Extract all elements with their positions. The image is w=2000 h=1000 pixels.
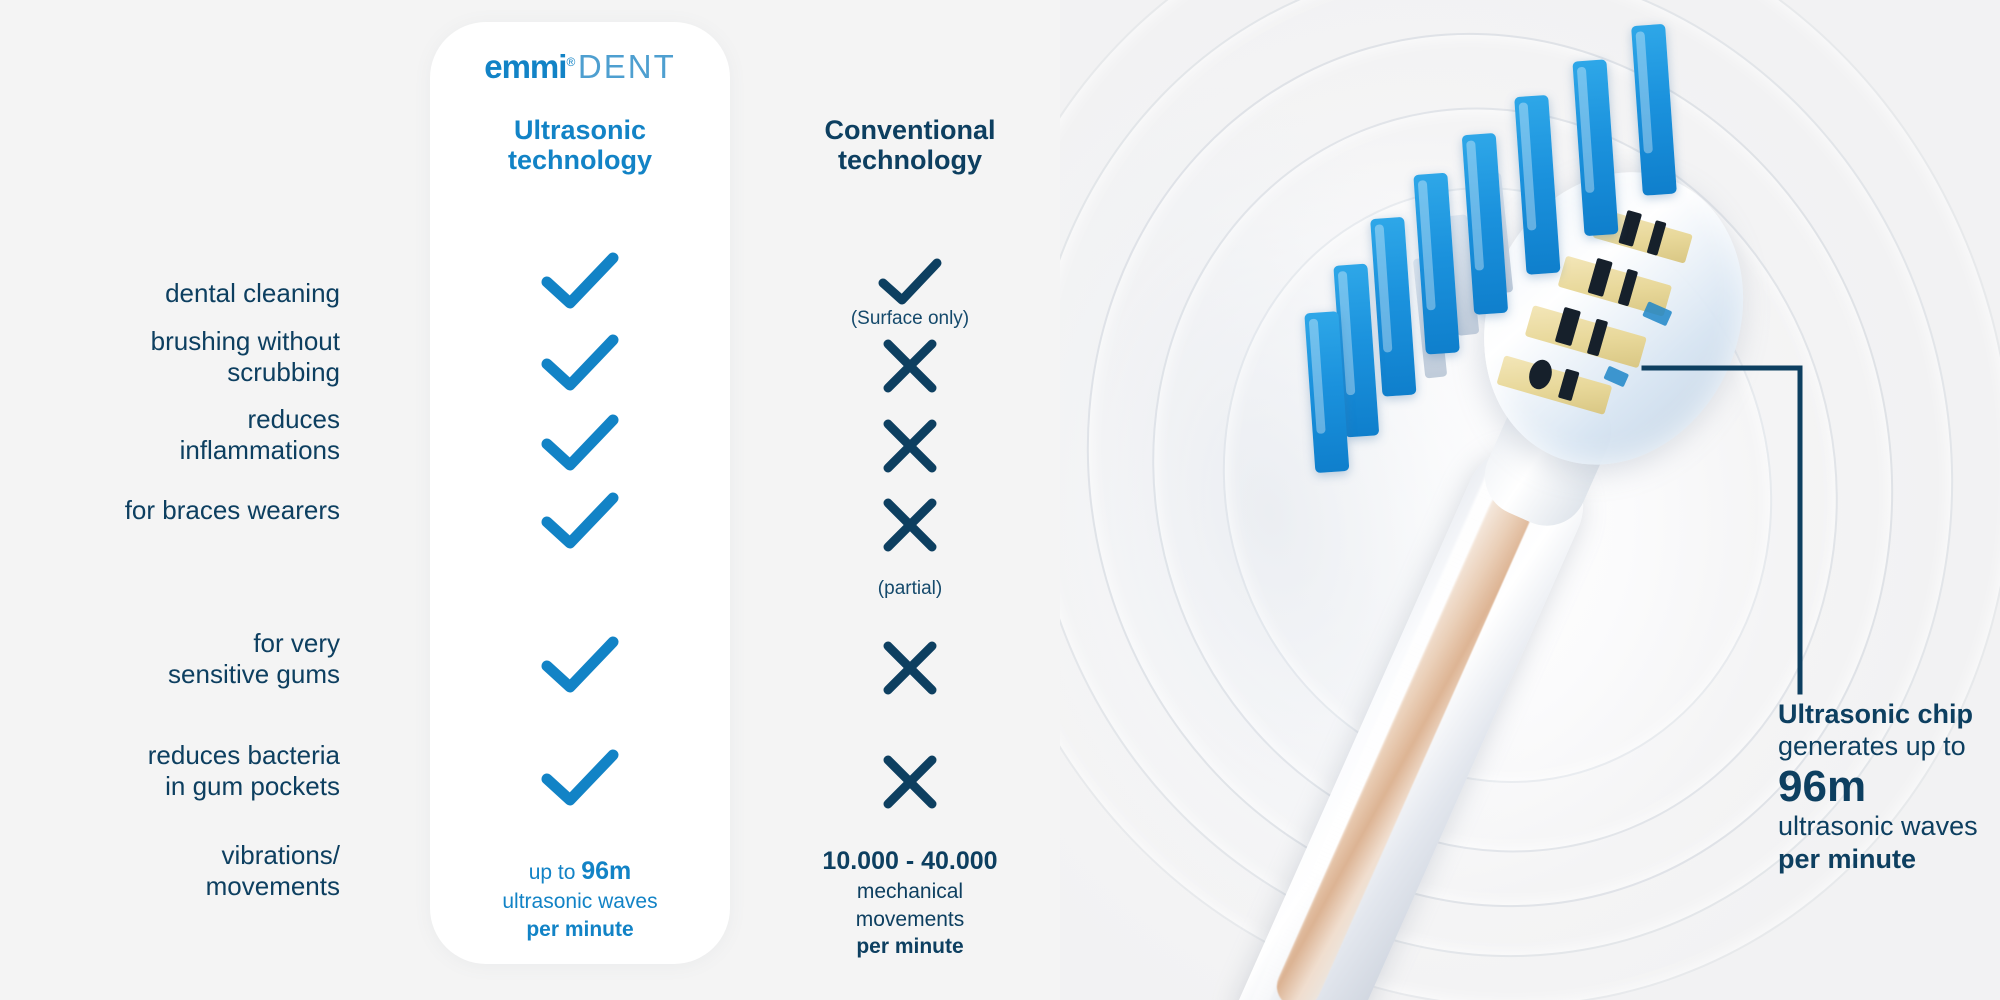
- row-label-dental-cleaning: dental cleaning: [0, 278, 340, 309]
- callout-line4: ultrasonic waves: [1778, 810, 2000, 842]
- footer-ultrasonic: up to 96m ultrasonic waves per minute: [430, 855, 730, 943]
- column-header-ultrasonic: Ultrasonic technology: [430, 115, 730, 175]
- cross-icon: [880, 495, 940, 555]
- column-header-conventional-line1: Conventional: [760, 115, 1060, 145]
- emmi-dent-logo: emmi®DENT: [430, 48, 730, 86]
- row-3-ultrasonic-mark: [430, 488, 730, 559]
- row-2-ultrasonic-mark: [430, 410, 730, 481]
- row-label-line1: reduces bacteria: [0, 740, 340, 771]
- footer-conventional-line2: mechanical: [760, 878, 1060, 906]
- row-label-line2: scrubbing: [0, 357, 340, 388]
- check-icon: [537, 488, 623, 554]
- column-header-ultrasonic-line1: Ultrasonic: [430, 115, 730, 145]
- row-label-vibrations-movements: vibrations/ movements: [0, 840, 340, 901]
- check-icon: [537, 410, 623, 476]
- row-0-ultrasonic-mark: [430, 248, 730, 319]
- row-2-conventional-mark: [760, 416, 1060, 481]
- check-icon: [537, 632, 623, 698]
- row-label-line1: reduces: [0, 404, 340, 435]
- footer-ultrasonic-prefix: up to: [529, 861, 582, 884]
- callout-line5: per minute: [1778, 843, 2000, 875]
- row-label-line2: movements: [0, 871, 340, 902]
- row-1-conventional-mark: [760, 336, 1060, 401]
- row-label-line1: dental cleaning: [0, 278, 340, 309]
- row-label-line2: inflammations: [0, 435, 340, 466]
- row-3-conventional-note: (partial): [760, 578, 1060, 600]
- footer-conventional-line1: 10.000 - 40.000: [760, 845, 1060, 878]
- logo-emmi-text: emmi: [484, 48, 566, 85]
- callout-line3: 96m: [1778, 763, 2000, 811]
- logo-registered-mark: ®: [566, 55, 574, 69]
- cross-icon: [880, 638, 940, 698]
- footer-ultrasonic-line3: per minute: [430, 916, 730, 944]
- cross-icon: [880, 416, 940, 476]
- column-header-conventional: Conventional technology: [760, 115, 1060, 175]
- callout-leader-line: [1640, 360, 1820, 700]
- row-label-for-braces-wearers: for braces wearers: [0, 495, 340, 526]
- row-4-conventional-mark: [760, 638, 1060, 703]
- row-label-line1: for very: [0, 628, 340, 659]
- check-icon: [537, 248, 623, 314]
- callout-line1: Ultrasonic chip: [1778, 698, 2000, 730]
- row-1-ultrasonic-mark: [430, 330, 730, 401]
- footer-conventional-line3: movements: [760, 906, 1060, 934]
- check-icon: [537, 330, 623, 396]
- row-4-ultrasonic-mark: [430, 632, 730, 703]
- row-label-reduces-inflammations: reduces inflammations: [0, 404, 340, 465]
- row-label-line1: vibrations/: [0, 840, 340, 871]
- row-3-conventional-mark: [760, 495, 1060, 560]
- row-label-for-very-sensitive-gums: for very sensitive gums: [0, 628, 340, 689]
- check-icon: [537, 745, 623, 811]
- logo-dent-text: DENT: [578, 48, 676, 85]
- row-5-conventional-mark: [760, 752, 1060, 817]
- row-label-line1: for braces wearers: [0, 495, 340, 526]
- column-header-conventional-line2: technology: [760, 145, 1060, 175]
- cross-icon: [880, 336, 940, 396]
- check-icon: [875, 255, 945, 309]
- footer-ultrasonic-line2: ultrasonic waves: [430, 888, 730, 916]
- callout-line2: generates up to: [1778, 730, 2000, 762]
- row-5-ultrasonic-mark: [430, 745, 730, 816]
- row-0-conventional-note: (Surface only): [760, 308, 1060, 330]
- footer-ultrasonic-line1: up to 96m: [430, 855, 730, 888]
- column-header-ultrasonic-line2: technology: [430, 145, 730, 175]
- row-label-reduces-bacteria: reduces bacteria in gum pockets: [0, 740, 340, 801]
- footer-conventional-line4: per minute: [760, 933, 1060, 961]
- footer-ultrasonic-value: 96m: [581, 857, 631, 885]
- toothbrush-handle-core: [1270, 486, 1538, 1000]
- cross-icon: [880, 752, 940, 812]
- row-label-brushing-without-scrubbing: brushing without scrubbing: [0, 326, 340, 387]
- row-0-conventional-mark: [760, 255, 1060, 314]
- row-label-line1: brushing without: [0, 326, 340, 357]
- ultrasonic-chip-callout: Ultrasonic chip generates up to 96m ultr…: [1778, 698, 2000, 875]
- footer-conventional: 10.000 - 40.000 mechanical movements per…: [760, 845, 1060, 961]
- row-label-line2: sensitive gums: [0, 659, 340, 690]
- row-label-line2: in gum pockets: [0, 771, 340, 802]
